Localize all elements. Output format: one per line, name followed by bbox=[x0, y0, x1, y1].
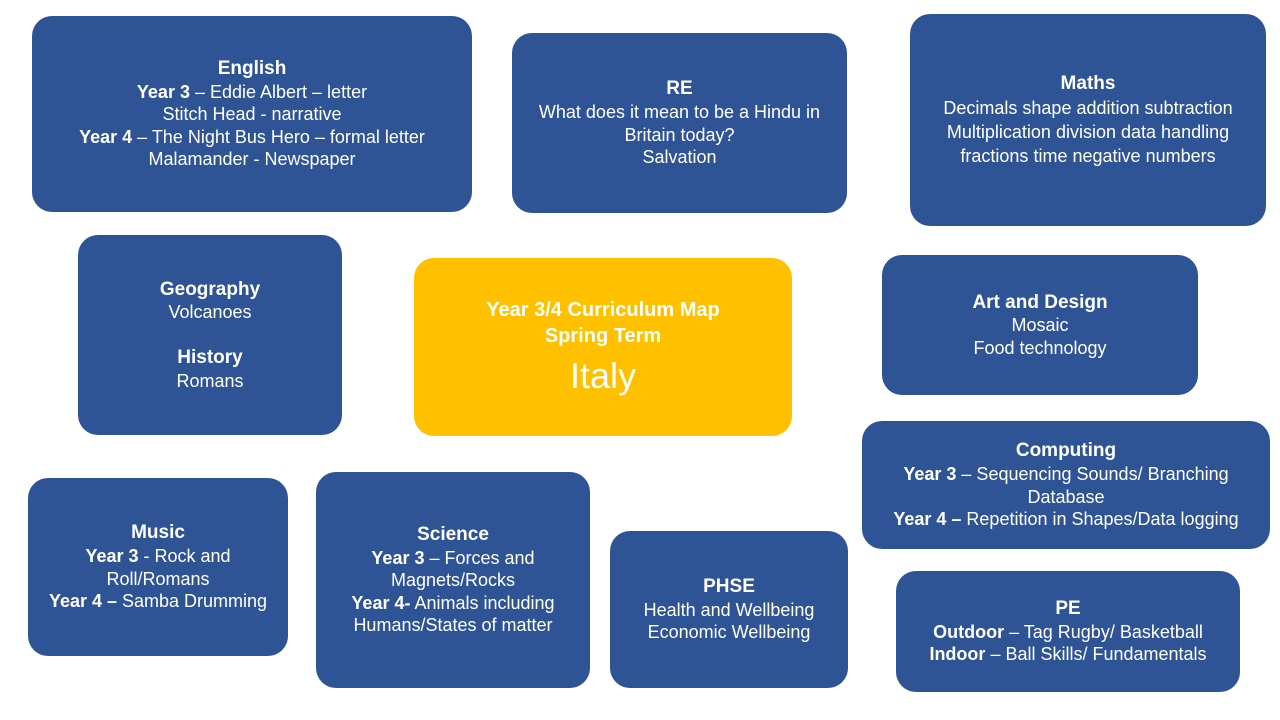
card-line: Indoor – Ball Skills/ Fundamentals bbox=[929, 643, 1206, 666]
card-line: Magnets/Rocks bbox=[351, 569, 554, 592]
subject-card-pe[interactable]: PE Outdoor – Tag Rugby/ BasketballIndoor… bbox=[896, 571, 1240, 692]
card-line: Year 4 – Samba Drumming bbox=[49, 590, 267, 613]
card-line: What does it mean to be a Hindu in bbox=[539, 101, 820, 124]
card-line: Stitch Head - narrative bbox=[79, 103, 425, 126]
card-line: Year 3 – Eddie Albert – letter bbox=[79, 81, 425, 104]
card-line: Food technology bbox=[973, 337, 1106, 360]
card-line: Outdoor – Tag Rugby/ Basketball bbox=[929, 621, 1206, 644]
card-line: Year 4 – The Night Bus Hero – formal let… bbox=[79, 126, 425, 149]
card-line: Year 4 – Repetition in Shapes/Data loggi… bbox=[893, 508, 1238, 531]
card-line: Mosaic bbox=[973, 314, 1106, 337]
card-body-re: What does it mean to be a Hindu inBritai… bbox=[539, 101, 820, 169]
curriculum-map-canvas: English Year 3 – Eddie Albert – letterSt… bbox=[0, 0, 1280, 720]
card-title-art-and-design: Art and Design bbox=[972, 291, 1107, 315]
card-line: Roll/Romans bbox=[49, 568, 267, 591]
topic-word: addition bbox=[1076, 98, 1139, 118]
card-title-re: RE bbox=[666, 77, 692, 101]
topic-word: division bbox=[1056, 122, 1116, 142]
subject-card-english[interactable]: English Year 3 – Eddie Albert – letterSt… bbox=[32, 16, 472, 212]
subject-card-art-and-design[interactable]: Art and Design MosaicFood technology bbox=[882, 255, 1198, 395]
topic-word: time bbox=[1033, 146, 1067, 166]
subject-card-maths[interactable]: Maths Decimals shape addition subtractio… bbox=[910, 14, 1266, 226]
curriculum-map-highlight[interactable]: Year 3/4 Curriculum Map Spring Term Ital… bbox=[414, 258, 792, 436]
card-line: Database bbox=[893, 486, 1238, 509]
card-line: Volcanoes bbox=[168, 301, 251, 324]
card-body-pe: Outdoor – Tag Rugby/ BasketballIndoor – … bbox=[929, 621, 1206, 666]
topic-word: Decimals bbox=[943, 98, 1017, 118]
card-title-science: Science bbox=[417, 523, 489, 547]
card-line: Malamander - Newspaper bbox=[79, 148, 425, 171]
topic-word: shape bbox=[1022, 98, 1071, 118]
card-body-science: Year 3 – Forces andMagnets/RocksYear 4- … bbox=[351, 547, 554, 637]
card-body-art-and-design: MosaicFood technology bbox=[973, 314, 1106, 359]
card-line: Health and Wellbeing bbox=[644, 599, 815, 622]
subject-card-music[interactable]: Music Year 3 - Rock andRoll/RomansYear 4… bbox=[28, 478, 288, 656]
card-body-computing: Year 3 – Sequencing Sounds/ BranchingDat… bbox=[893, 463, 1238, 531]
card-body-phse: Health and WellbeingEconomic Wellbeing bbox=[644, 599, 815, 644]
card-line: Salvation bbox=[539, 146, 820, 169]
card-title-pe: PE bbox=[1055, 597, 1080, 621]
topic-word: Multiplication bbox=[947, 122, 1051, 142]
card-body-history: Romans bbox=[176, 370, 243, 393]
highlight-line-2: Spring Term bbox=[545, 323, 661, 349]
card-line: Humans/States of matter bbox=[351, 614, 554, 637]
card-title-history: History bbox=[177, 346, 242, 370]
card-body-music: Year 3 - Rock andRoll/RomansYear 4 – Sam… bbox=[49, 545, 267, 613]
card-body-english: Year 3 – Eddie Albert – letterStitch Hea… bbox=[79, 81, 425, 171]
topic-word: subtraction bbox=[1145, 98, 1233, 118]
topic-word: handling bbox=[1161, 122, 1229, 142]
card-title-maths: Maths bbox=[1061, 72, 1116, 96]
card-body-maths: Decimals shape addition subtraction Mult… bbox=[920, 96, 1256, 168]
card-line: Year 3 – Sequencing Sounds/ Branching bbox=[893, 463, 1238, 486]
card-title-english: English bbox=[218, 57, 287, 81]
card-line: Year 3 – Forces and bbox=[351, 547, 554, 570]
subject-card-phse[interactable]: PHSE Health and WellbeingEconomic Wellbe… bbox=[610, 531, 848, 688]
card-title-phse: PHSE bbox=[703, 575, 755, 599]
highlight-topic: Italy bbox=[570, 353, 636, 398]
card-title-music: Music bbox=[131, 521, 185, 545]
card-line: Economic Wellbeing bbox=[644, 621, 815, 644]
subject-card-computing[interactable]: Computing Year 3 – Sequencing Sounds/ Br… bbox=[862, 421, 1270, 549]
topic-word: data bbox=[1121, 122, 1156, 142]
topic-word: fractions bbox=[960, 146, 1028, 166]
topic-word: numbers bbox=[1146, 146, 1216, 166]
card-line: Year 3 - Rock and bbox=[49, 545, 267, 568]
card-line: Britain today? bbox=[539, 124, 820, 147]
card-title-computing: Computing bbox=[1016, 439, 1116, 463]
subject-card-re[interactable]: RE What does it mean to be a Hindu inBri… bbox=[512, 33, 847, 213]
highlight-line-1: Year 3/4 Curriculum Map bbox=[486, 297, 719, 323]
subject-card-science[interactable]: Science Year 3 – Forces andMagnets/Rocks… bbox=[316, 472, 590, 688]
card-body-geography: Volcanoes bbox=[168, 301, 251, 324]
card-line: Romans bbox=[176, 370, 243, 393]
topic-word: negative bbox=[1072, 146, 1140, 166]
card-line: Year 4- Animals including bbox=[351, 592, 554, 615]
subject-card-geography-history[interactable]: Geography Volcanoes History Romans bbox=[78, 235, 342, 435]
card-title-geography: Geography bbox=[160, 278, 260, 302]
